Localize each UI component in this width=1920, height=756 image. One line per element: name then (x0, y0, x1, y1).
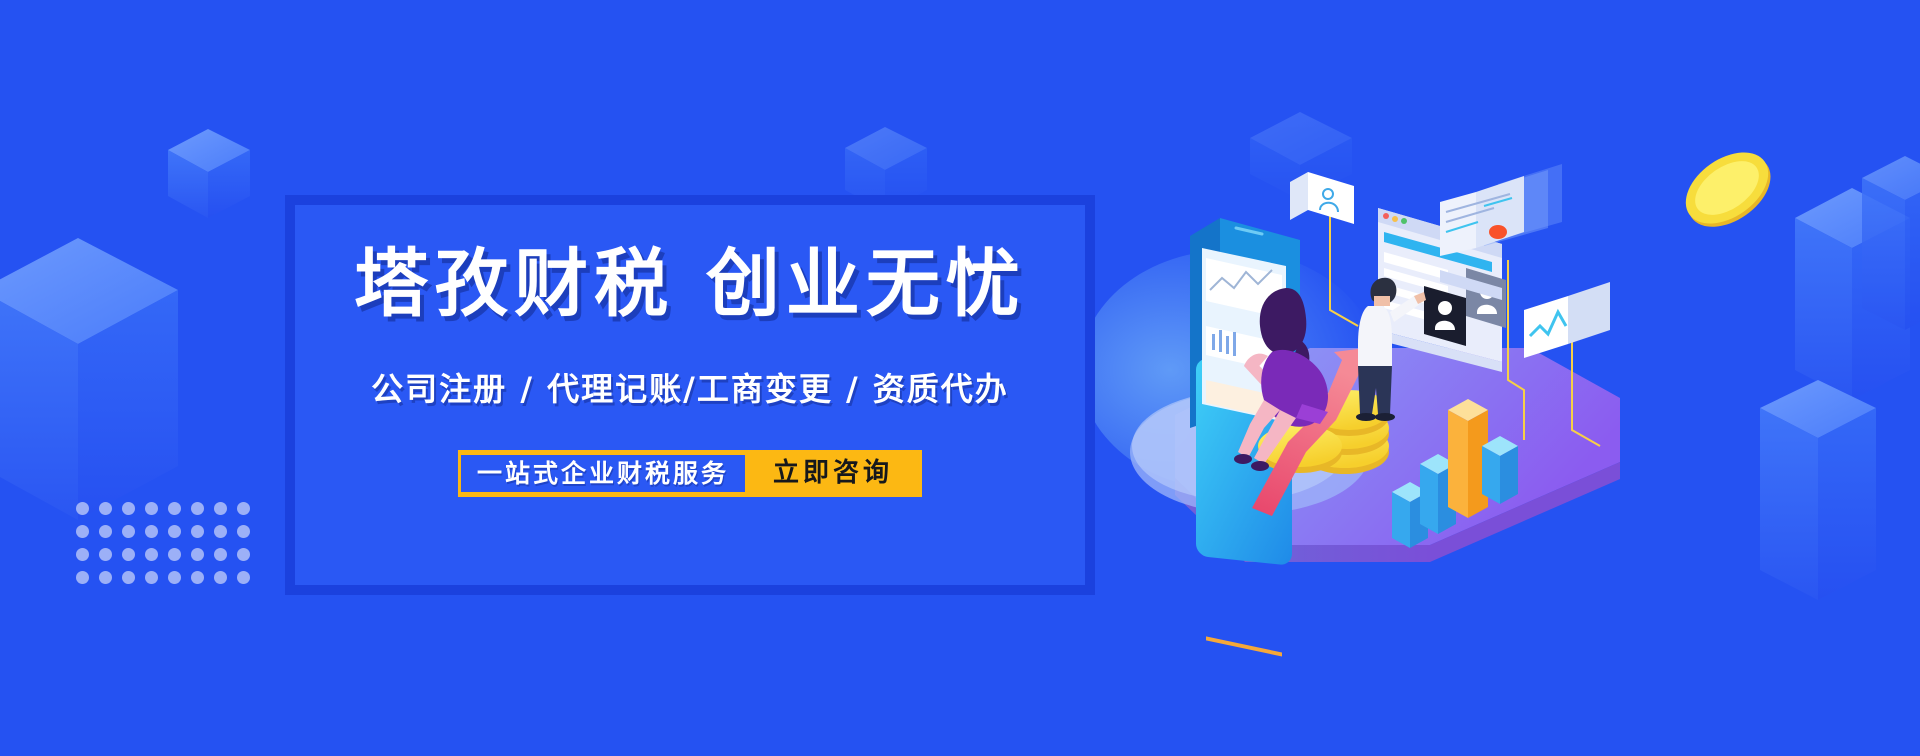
grid-dot (99, 502, 112, 515)
grid-dot (122, 502, 135, 515)
grid-dot (237, 502, 250, 515)
page-title: 塔孜财税 创业无忧 (295, 247, 1085, 321)
iso-prism-right-lower (1760, 380, 1876, 600)
cta-bar: 一站式企业财税服务 立即咨询 (458, 450, 922, 497)
iso-cube-left-small (168, 129, 250, 218)
gold-coin-large (1672, 138, 1782, 238)
grid-dot (191, 502, 204, 515)
grid-dot (145, 548, 158, 561)
grid-dot (168, 502, 181, 515)
card-user-badge (1290, 172, 1354, 224)
grid-dot (237, 571, 250, 584)
grid-dot (214, 571, 227, 584)
grid-dot (99, 571, 112, 584)
grid-dot (99, 548, 112, 561)
headline-frame: 塔孜财税 创业无忧 公司注册 / 代理记账/工商变更 / 资质代办 一站式企业财… (285, 195, 1095, 595)
grid-dot (122, 525, 135, 538)
iso-prism-right-edge (1862, 156, 1920, 330)
grid-dot (214, 502, 227, 515)
grid-dot (76, 502, 89, 515)
grid-dot (214, 525, 227, 538)
grid-dot (122, 571, 135, 584)
grid-dot (168, 548, 181, 561)
grid-dot (99, 525, 112, 538)
consult-now-button[interactable]: 立即咨询 (745, 453, 919, 494)
isometric-illustration (1080, 164, 1620, 656)
grid-dot (191, 548, 204, 561)
card-line-chart (1524, 282, 1610, 358)
grid-dot (191, 525, 204, 538)
promo-banner: 塔孜财税 创业无忧 公司注册 / 代理记账/工商变更 / 资质代办 一站式企业财… (0, 0, 1920, 756)
grid-dot (145, 525, 158, 538)
grid-dot (122, 548, 135, 561)
grid-dot (145, 571, 158, 584)
grid-dot (168, 525, 181, 538)
bar-4 (1482, 436, 1518, 504)
card-credit (1440, 176, 1524, 256)
iso-cube-left-large (0, 238, 178, 520)
dot-grid-decoration (76, 502, 260, 594)
grid-dot (191, 571, 204, 584)
grid-dot (237, 548, 250, 561)
grid-dot (76, 525, 89, 538)
grid-dot (237, 525, 250, 538)
grid-dot (214, 548, 227, 561)
grid-dot (145, 502, 158, 515)
grid-dot (76, 548, 89, 561)
cta-tagline: 一站式企业财税服务 (461, 455, 745, 492)
service-list-subtitle: 公司注册 / 代理记账/工商变更 / 资质代办 (295, 373, 1085, 405)
grid-dot (168, 571, 181, 584)
grid-dot (76, 571, 89, 584)
headline-frame-inner: 塔孜财税 创业无忧 公司注册 / 代理记账/工商变更 / 资质代办 一站式企业财… (295, 205, 1085, 585)
